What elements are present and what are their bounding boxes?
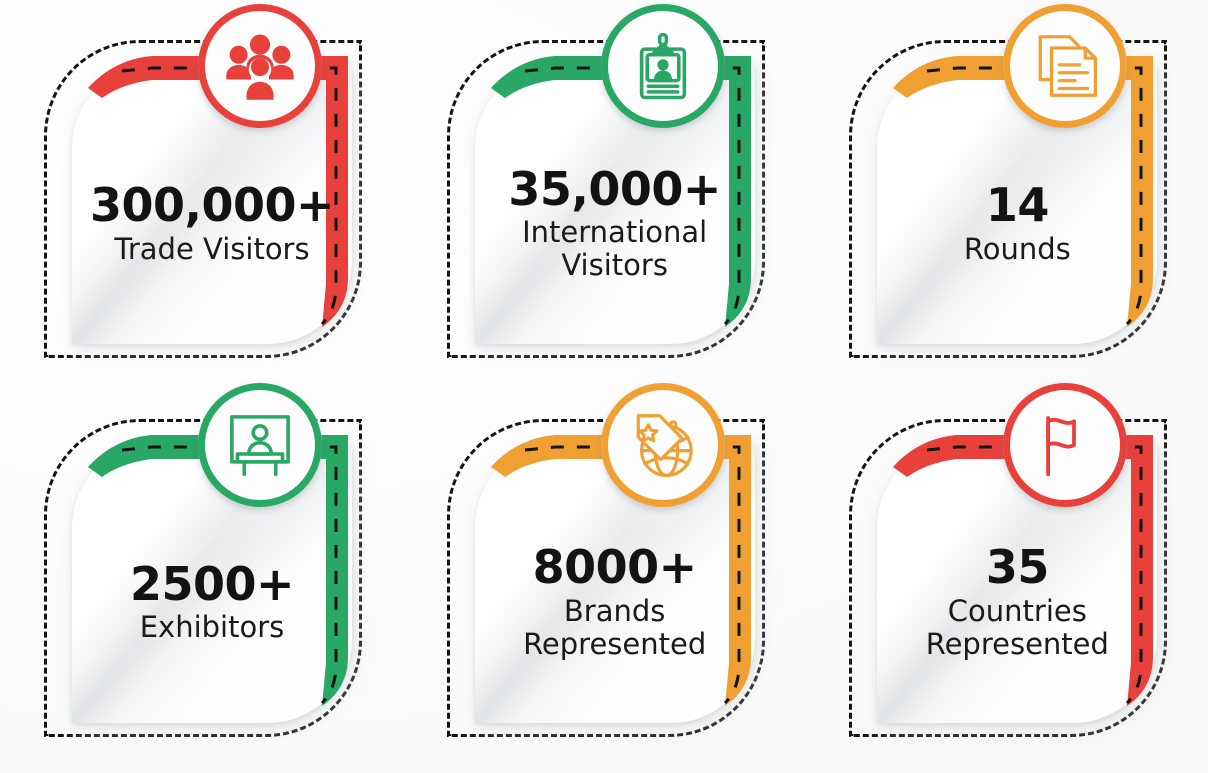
stat-value: 14	[986, 182, 1049, 229]
stat-text-block: 35 Countries Represented	[877, 443, 1157, 723]
stat-card-countries-represented[interactable]: 35 Countries Represented	[835, 395, 1185, 750]
stat-card-exhibitors[interactable]: 2500+ Exhibitors	[30, 395, 380, 750]
stat-label: Exhibitors	[140, 611, 285, 644]
stat-card-grid: 300,000+ Trade Visitors	[0, 0, 1208, 773]
stat-card-cell: 2500+ Exhibitors	[0, 387, 403, 773]
stat-card-cell: 300,000+ Trade Visitors	[0, 0, 403, 387]
stat-label: Brands Represented	[487, 595, 742, 661]
stat-value: 2500+	[130, 561, 294, 608]
stat-card-rounds[interactable]: 14 Rounds	[835, 16, 1185, 371]
stat-card-trade-visitors[interactable]: 300,000+ Trade Visitors	[30, 16, 380, 371]
stat-label: Rounds	[964, 233, 1071, 266]
stat-card-cell: 35,000+ International Visitors	[403, 0, 806, 387]
stat-card-cell: 14 Rounds	[805, 0, 1208, 387]
stat-text-block: 300,000+ Trade Visitors	[72, 64, 352, 344]
stat-label: Trade Visitors	[114, 233, 309, 266]
stat-card-international-visitors[interactable]: 35,000+ International Visitors	[433, 16, 783, 371]
stat-label: International Visitors	[487, 216, 742, 282]
stat-card-brands-represented[interactable]: 8000+ Brands Represented	[433, 395, 783, 750]
stat-text-block: 35,000+ International Visitors	[475, 64, 755, 344]
infographic-canvas: 300,000+ Trade Visitors	[0, 0, 1208, 773]
stat-value: 300,000+	[90, 182, 334, 229]
stat-text-block: 14 Rounds	[877, 64, 1157, 344]
stat-value: 35,000+	[508, 166, 721, 213]
stat-text-block: 8000+ Brands Represented	[475, 443, 755, 723]
stat-card-cell: 8000+ Brands Represented	[403, 387, 806, 773]
stat-value: 35	[986, 544, 1049, 591]
stat-text-block: 2500+ Exhibitors	[72, 443, 352, 723]
stat-value: 8000+	[533, 544, 697, 591]
stat-card-cell: 35 Countries Represented	[805, 387, 1208, 773]
stat-label: Countries Represented	[890, 595, 1145, 661]
